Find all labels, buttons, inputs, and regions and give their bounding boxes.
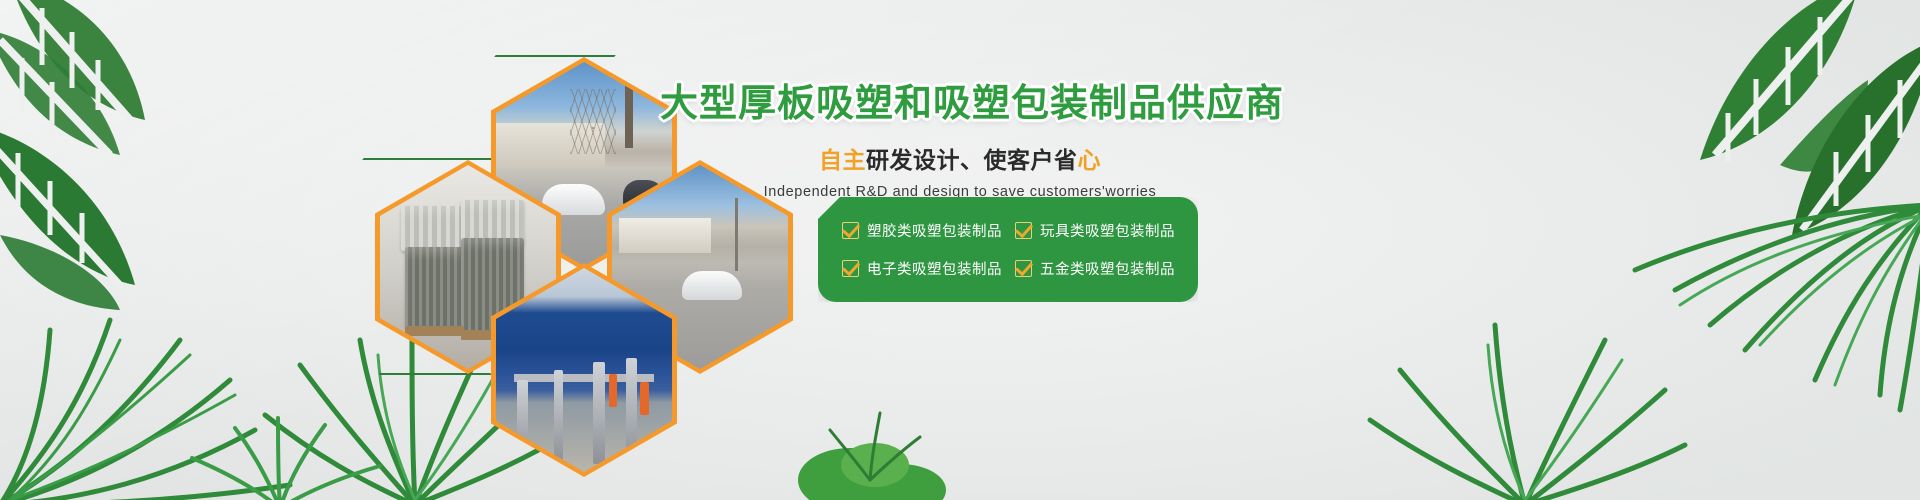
machine-part-2	[554, 370, 563, 462]
promo-banner: 大型厚板吸塑和吸塑包装制品供应商 自主研发设计、使客户省心 Independen…	[0, 0, 1920, 500]
pallet-stack-a	[405, 247, 465, 329]
check-icon	[842, 222, 859, 239]
monstera-leaf-right	[1740, 20, 1920, 270]
feature-item-hardware[interactable]: 五金类吸塑包装制品	[1015, 258, 1184, 279]
grass-bottom-left	[150, 400, 410, 500]
feature-label: 玩具类吸塑包装制品	[1040, 220, 1175, 241]
feature-item-electronics[interactable]: 电子类吸塑包装制品	[842, 258, 1011, 279]
check-icon	[842, 260, 859, 277]
pallet-top-a	[401, 206, 464, 251]
palm-frond-right	[1580, 185, 1920, 415]
feature-item-plastic[interactable]: 塑胶类吸塑包装制品	[842, 220, 1011, 241]
check-icon	[1015, 260, 1032, 277]
machine-part-1	[517, 380, 528, 462]
palm-frond-bottom-right	[1360, 300, 1690, 500]
banner-text-block: 大型厚板吸塑和吸塑包装制品供应商 自主研发设计、使客户省心 Independen…	[660, 72, 1260, 200]
check-icon	[1015, 222, 1032, 239]
wooden-skid-a	[405, 326, 465, 336]
feature-item-toys[interactable]: 玩具类吸塑包装制品	[1015, 220, 1184, 241]
machine-part-3	[593, 362, 605, 464]
machine-part-4	[626, 358, 637, 464]
shrub-bottom-center	[780, 385, 980, 500]
production-line-photo-frame	[496, 268, 672, 472]
street-lamp-shape	[735, 198, 738, 271]
accent-line-bottom	[378, 373, 492, 375]
banner-subline: 自主研发设计、使客户省心	[660, 141, 1260, 175]
feature-label: 塑胶类吸塑包装制品	[867, 220, 1002, 241]
feature-label: 五金类吸塑包装制品	[1040, 258, 1175, 279]
banner-headline: 大型厚板吸塑和吸塑包装制品供应商	[660, 72, 1260, 127]
subline-rest: 研发设计、使客户省	[866, 148, 1078, 174]
accent-line-top	[494, 55, 616, 57]
monstera-leaf-top-right	[1620, 0, 1870, 225]
monstera-leaf-left	[0, 95, 170, 315]
production-line-image	[496, 268, 672, 472]
machine-orange-1	[609, 374, 618, 407]
monstera-leaf-top-left	[0, 0, 190, 200]
feature-label: 电子类吸塑包装制品	[867, 258, 1002, 279]
subline-tail: 心	[1078, 148, 1102, 174]
chimney-shape	[625, 86, 633, 147]
bare-tree-shape	[570, 89, 616, 154]
feature-panel: 塑胶类吸塑包装制品 玩具类吸塑包装制品 电子类吸塑包装制品 五金类吸塑包装制品	[818, 197, 1198, 302]
subline-highlight: 自主	[819, 148, 866, 174]
feature-grid: 塑胶类吸塑包装制品 玩具类吸塑包装制品 电子类吸塑包装制品 五金类吸塑包装制品	[818, 197, 1198, 302]
palm-frond-bottom-left	[0, 300, 320, 500]
accent-line-left	[362, 158, 494, 160]
machine-orange-2	[640, 382, 649, 415]
